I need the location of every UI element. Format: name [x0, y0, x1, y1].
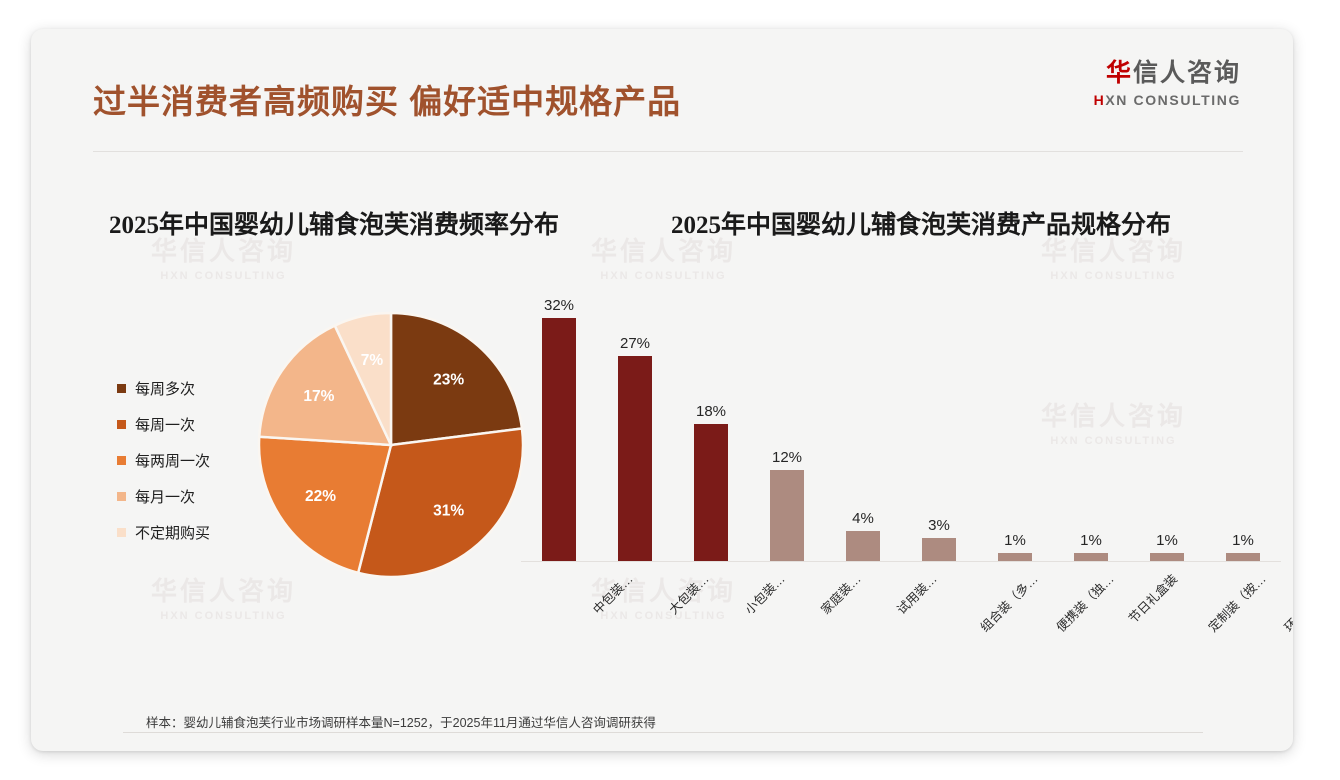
legend-item-label: 每周一次: [135, 414, 195, 435]
bar-chart-plot: 32%27%18%12%4%3%1%1%1%1%: [521, 269, 1281, 561]
bar-column[interactable]: 1%: [1130, 269, 1204, 561]
slide-canvas: 华信人咨询 HXN CONSULTING 华信人咨询 HXN CONSULTIN…: [0, 0, 1340, 780]
legend-swatch-icon: [117, 420, 126, 429]
legend-item-label: 每两周一次: [135, 450, 210, 471]
logo-cn-rest: 信人咨询: [1133, 59, 1241, 87]
bar-rect[interactable]: [1074, 553, 1108, 561]
bar-column[interactable]: 27%: [598, 269, 672, 561]
bar-rect[interactable]: [694, 424, 728, 561]
bar-xaxis-label: 家庭装…: [816, 569, 865, 618]
legend-item-label: 每月一次: [135, 486, 195, 507]
pie-chart: 23%31%22%17%7%: [256, 310, 526, 580]
bar-value-label: 18%: [696, 404, 726, 419]
bar-chart-baseline: [521, 561, 1281, 562]
bar-value-label: 12%: [772, 450, 802, 465]
bar-column[interactable]: 18%: [674, 269, 748, 561]
bar-column[interactable]: 1%: [978, 269, 1052, 561]
bar-xaxis-label: 节日礼盒装: [1123, 569, 1181, 627]
legend-swatch-icon: [117, 384, 126, 393]
logo-en-rest: XN CONSULTING: [1105, 92, 1241, 108]
bar-chart-panel: 32%27%18%12%4%3%1%1%1%1% 中包装…大包装…小包装…家庭装…: [501, 269, 1291, 669]
bar-value-label: 27%: [620, 336, 650, 351]
legend-item-label: 每周多次: [135, 378, 195, 399]
bar-column[interactable]: 32%: [522, 269, 596, 561]
bar-xaxis-label: 便携装（独…: [1051, 569, 1117, 635]
bar-xaxis-label: 组合装（多…: [975, 569, 1041, 635]
bar-value-label: 1%: [1156, 533, 1178, 548]
legend-swatch-icon: [117, 492, 126, 501]
logo-cn-red: 华: [1106, 59, 1133, 87]
bar-value-label: 4%: [852, 511, 874, 526]
bar-value-label: 32%: [544, 298, 574, 313]
bar-rect[interactable]: [1226, 553, 1260, 561]
legend-swatch-icon: [117, 528, 126, 537]
pie-slice-label: 22%: [305, 488, 336, 505]
bar-rect[interactable]: [846, 531, 880, 561]
pie-chart-svg: 23%31%22%17%7%: [256, 310, 526, 580]
legend-item-label: 不定期购买: [135, 522, 210, 543]
pie-slice-label: 7%: [361, 352, 384, 369]
pie-slice-label: 31%: [433, 502, 464, 519]
brand-logo: 华信人咨询 HXN CONSULTING: [1094, 61, 1241, 107]
logo-english: HXN CONSULTING: [1094, 93, 1241, 107]
bar-column[interactable]: 1%: [1206, 269, 1280, 561]
pie-chart-title: 2025年中国婴幼儿辅食泡芙消费频率分布: [109, 205, 559, 241]
bar-column[interactable]: 3%: [902, 269, 976, 561]
slide-header: 过半消费者高频购买 偏好适中规格产品 华信人咨询 HXN CONSULTING: [31, 29, 1293, 127]
pie-slice-label: 17%: [303, 388, 334, 405]
bar-column[interactable]: 4%: [826, 269, 900, 561]
bar-column[interactable]: 1%: [1054, 269, 1128, 561]
logo-chinese: 华信人咨询: [1094, 61, 1241, 86]
bar-xaxis-label: 中包装…: [588, 569, 637, 618]
bar-value-label: 1%: [1004, 533, 1026, 548]
bar-value-label: 1%: [1080, 533, 1102, 548]
header-divider: [93, 151, 1243, 152]
logo-en-red: H: [1094, 92, 1106, 108]
bar-chart-title: 2025年中国婴幼儿辅食泡芙消费产品规格分布: [671, 205, 1171, 241]
bar-rect[interactable]: [1150, 553, 1184, 561]
bar-rect[interactable]: [998, 553, 1032, 561]
page-title: 过半消费者高频购买 偏好适中规格产品: [93, 75, 681, 123]
bar-xaxis-label: 小包装…: [740, 569, 789, 618]
sample-note: 样本：婴幼儿辅食泡芙行业市场调研样本量N=1252，于2025年11月通过华信人…: [146, 712, 656, 731]
bar-rect[interactable]: [922, 538, 956, 561]
bar-rect[interactable]: [770, 470, 804, 561]
bar-value-label: 1%: [1232, 533, 1254, 548]
bar-column[interactable]: 12%: [750, 269, 824, 561]
slide-footer: ©2026.1 HXR华信人咨询 www.hxrcon.com: [31, 733, 1293, 751]
bar-value-label: 3%: [928, 518, 950, 533]
pie-slice-label: 23%: [433, 372, 464, 389]
bar-xaxis-label: 试用装…: [892, 569, 941, 618]
slide-card: 华信人咨询 HXN CONSULTING 华信人咨询 HXN CONSULTIN…: [31, 29, 1293, 751]
bar-rect[interactable]: [618, 356, 652, 561]
bar-xaxis-label: 环保装（可…: [1279, 569, 1293, 635]
bar-xaxis-label: 大包装…: [664, 569, 713, 618]
bar-xaxis-label: 定制装（按…: [1203, 569, 1269, 635]
website-link[interactable]: www.hxrcon.com: [1122, 750, 1213, 751]
copyright-text: ©2026.1 HXR华信人咨询: [135, 750, 269, 751]
legend-swatch-icon: [117, 456, 126, 465]
bar-rect[interactable]: [542, 318, 576, 561]
